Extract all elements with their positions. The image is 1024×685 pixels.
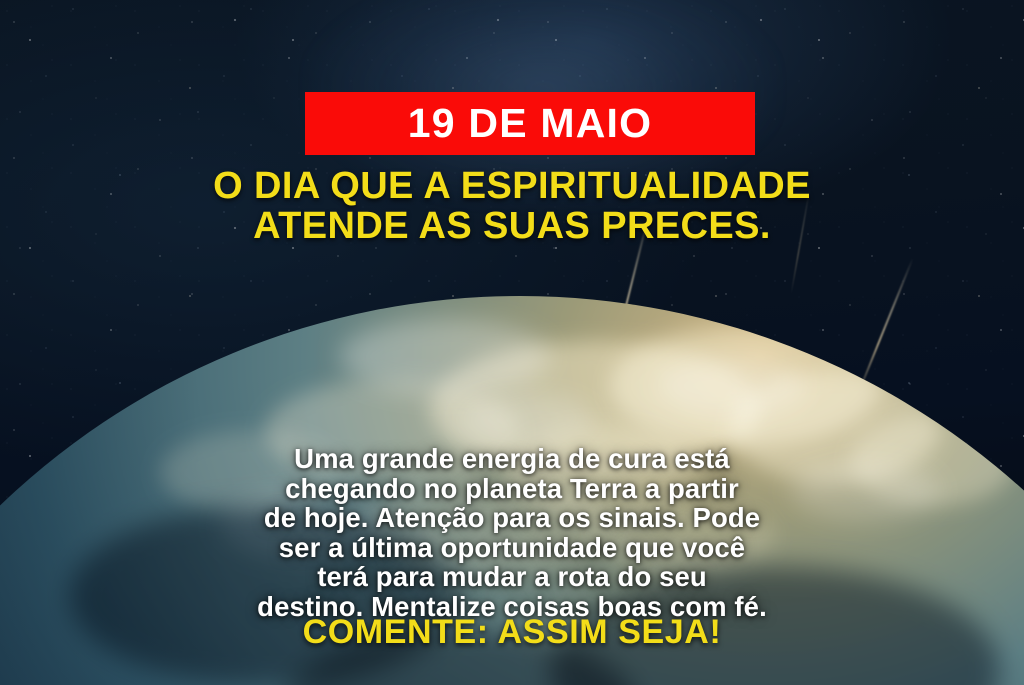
- body-line-3: de hoje. Atenção para os sinais. Pode: [0, 503, 1024, 533]
- date-banner: 19 DE MAIO: [305, 92, 755, 155]
- body-paragraph: Uma grande energia de cura está chegando…: [0, 444, 1024, 621]
- date-banner-label: 19 DE MAIO: [408, 103, 652, 144]
- body-line-2: chegando no planeta Terra a partir: [0, 474, 1024, 504]
- body-line-1: Uma grande energia de cura está: [0, 444, 1024, 474]
- poster-canvas: 19 DE MAIO O DIA QUE A ESPIRITUALIDADE A…: [0, 0, 1024, 685]
- headline-line-2: ATENDE AS SUAS PRECES.: [0, 206, 1024, 246]
- body-line-4: ser a última oportunidade que você: [0, 533, 1024, 563]
- headline: O DIA QUE A ESPIRITUALIDADE ATENDE AS SU…: [0, 166, 1024, 246]
- body-line-5: terá para mudar a rota do seu: [0, 562, 1024, 592]
- headline-line-1: O DIA QUE A ESPIRITUALIDADE: [0, 166, 1024, 206]
- call-to-action-label: COMENTE: ASSIM SEJA!: [0, 614, 1024, 650]
